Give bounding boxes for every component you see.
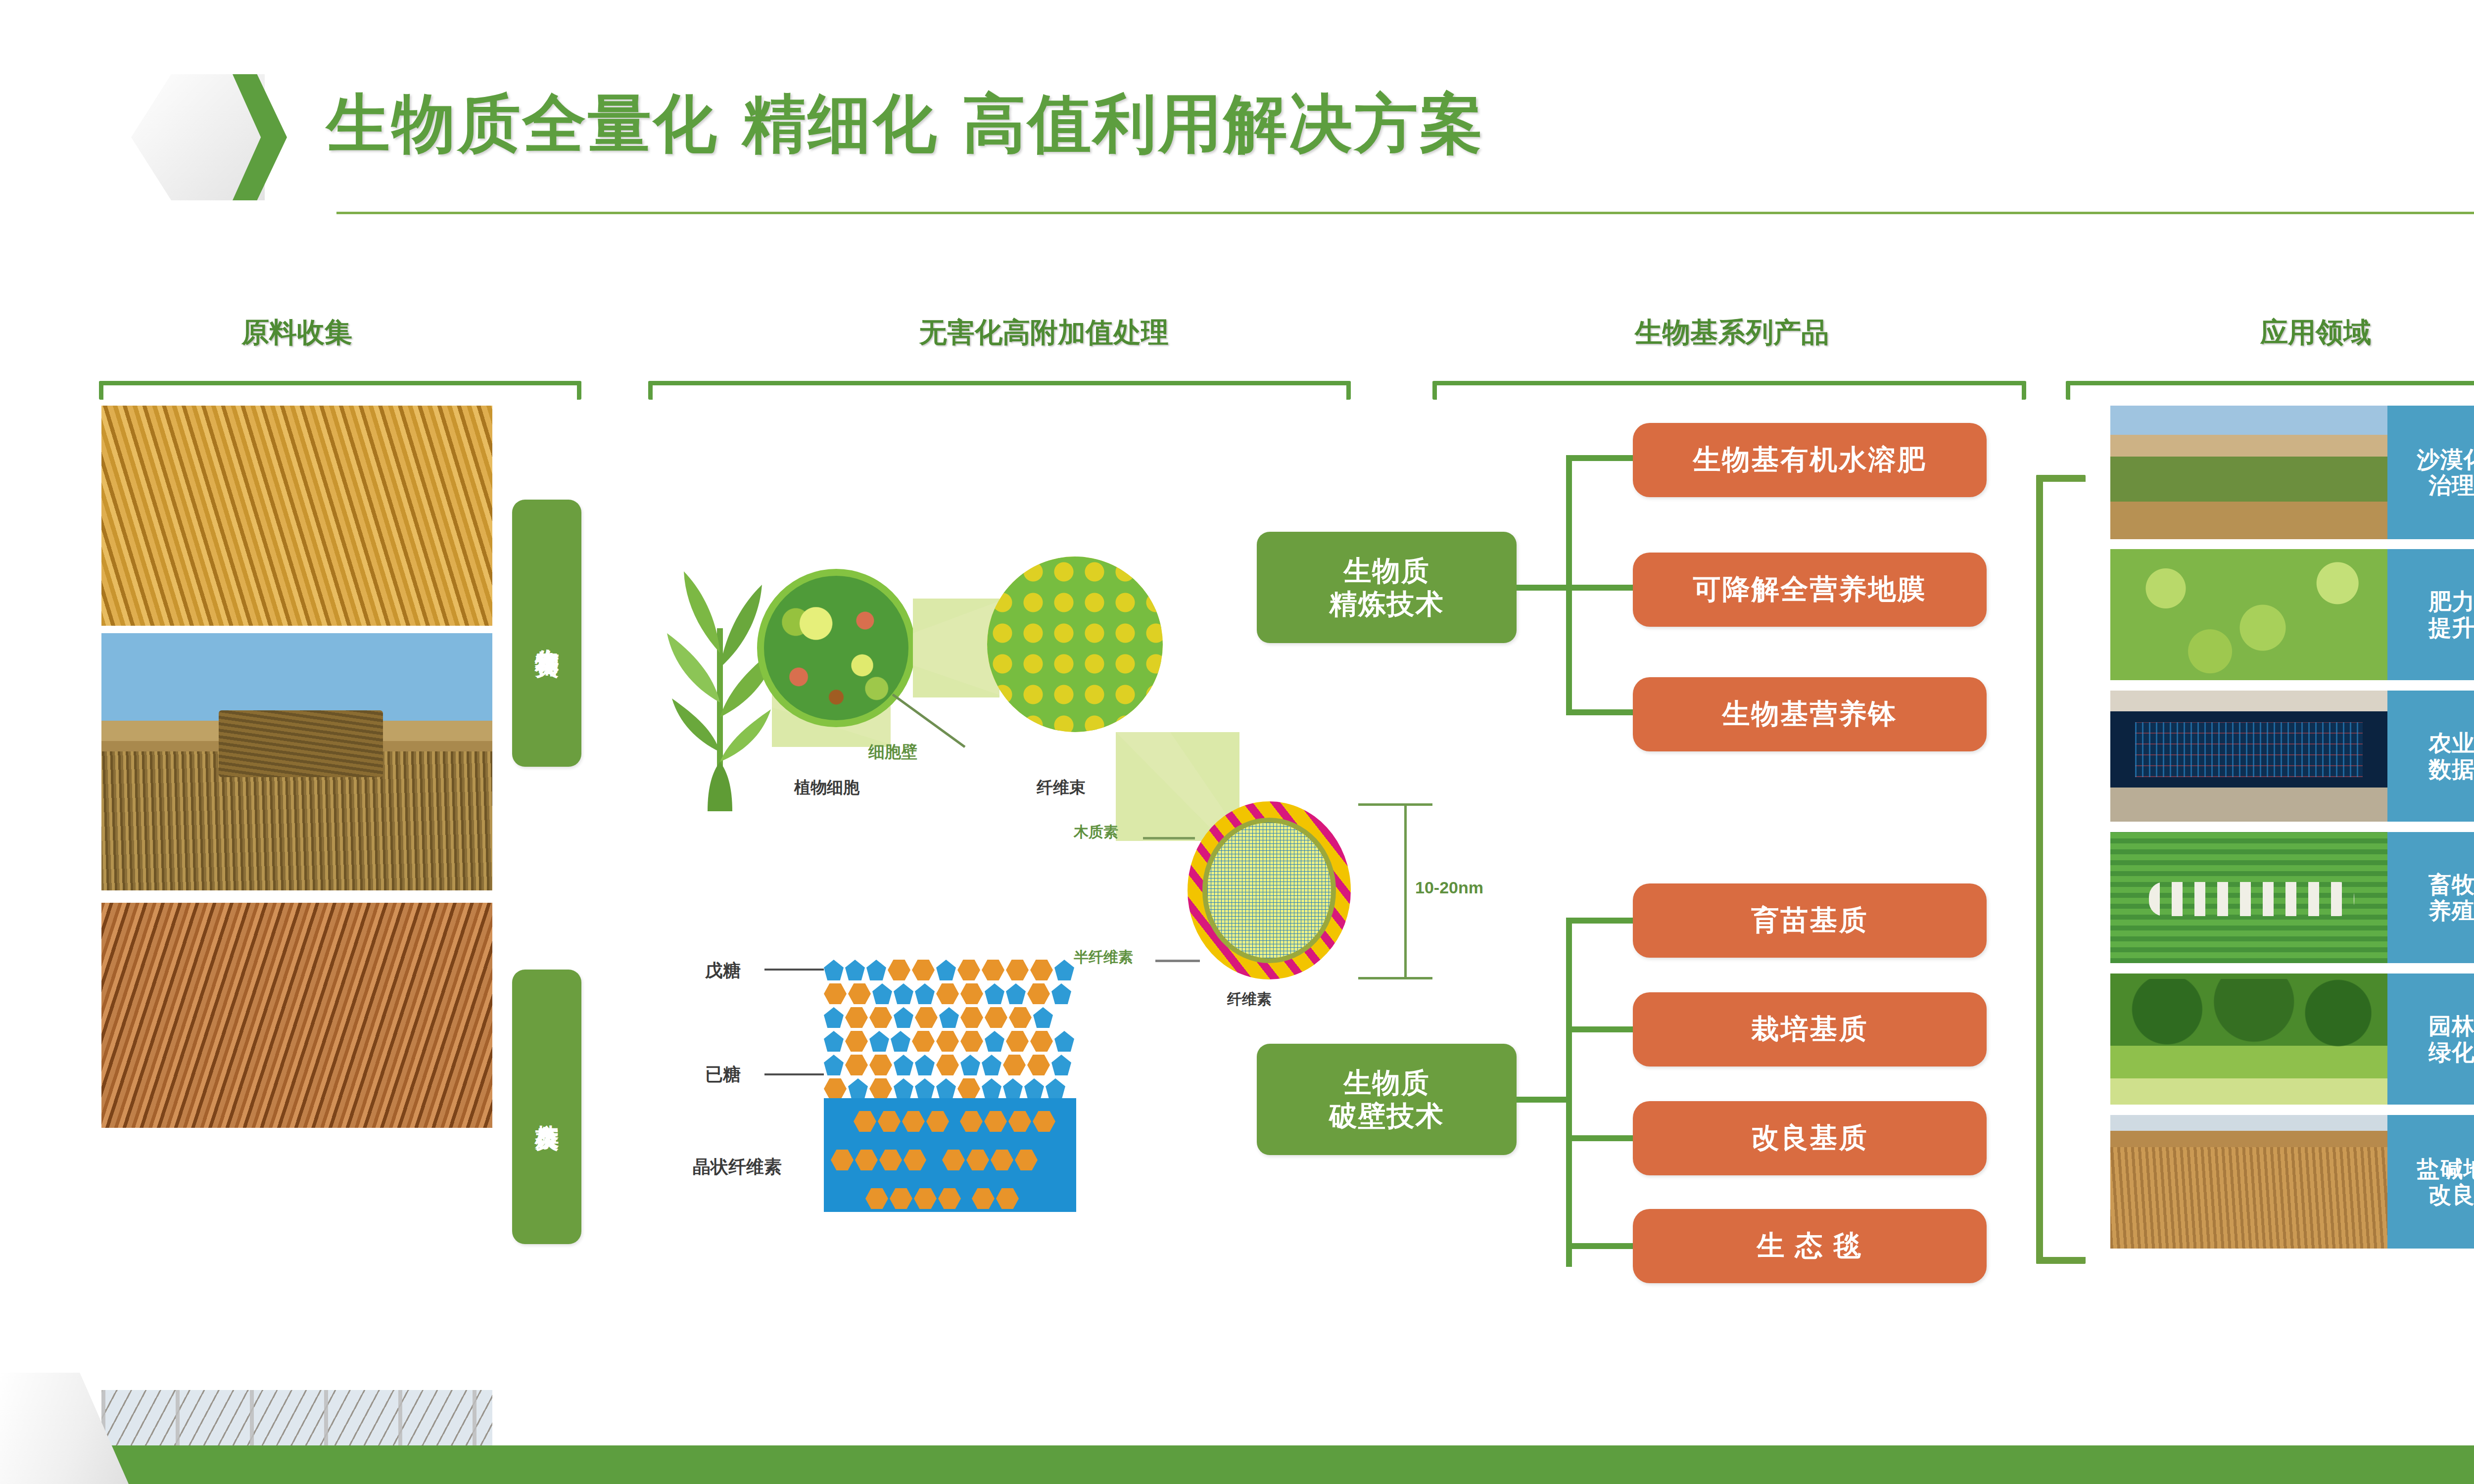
footer-bar	[0, 1445, 2474, 1484]
page-title: 生物质全量化 精细化 高值利用解决方案	[327, 82, 1485, 167]
section-bracket-applications	[2066, 381, 2474, 400]
product-box-improvement-substrate[interactable]: 改良基质	[1633, 1101, 1987, 1175]
section-title-processing: 无害化高附加值处理	[713, 314, 1376, 352]
dimension-tick-bottom	[1358, 977, 1432, 979]
application-label-agriculture-data: 农业 数据	[2387, 691, 2474, 822]
section-title-raw-material: 原料收集	[158, 314, 435, 352]
product-label-5: 栽培基质	[1752, 1011, 1868, 1048]
application-image-sheep-pasture	[2110, 832, 2387, 963]
fiber-bundle-illustration	[987, 556, 1163, 732]
application-label-desertification: 沙漠化 治理	[2387, 406, 2474, 539]
section-bracket-bio-products	[1432, 381, 2026, 400]
connector-wallbreak-spine	[1566, 921, 1572, 1267]
application-row-agriculture-data[interactable]: 农业 数据	[2110, 691, 2474, 822]
lignin-leader-line	[1143, 837, 1195, 839]
label-scale-10-20nm: 10-20nm	[1415, 878, 1483, 897]
application-row-landscaping[interactable]: 园林 绿化	[2110, 974, 2474, 1105]
product-box-eco-blanket[interactable]: 生 态 毯	[1633, 1209, 1987, 1283]
application-label-soil-fertility: 肥力 提升	[2387, 549, 2474, 680]
label-fiber-bundle: 纤维束	[1037, 777, 1086, 799]
sugar-chain-row-5	[824, 1055, 1071, 1075]
section-title-bio-products: 生物基系列产品	[1450, 314, 2014, 352]
hexose-leader-line	[764, 1073, 824, 1075]
product-label-4: 育苗基质	[1752, 902, 1868, 939]
application-image-cabbage-field	[2110, 549, 2387, 680]
product-box-nutrition-pot[interactable]: 生物基营养钵	[1633, 677, 1987, 751]
crystalline-cellulose-illustration	[824, 1098, 1076, 1212]
product-label-6: 改良基质	[1752, 1119, 1868, 1157]
raw-category-crop-straw[interactable]: 农作物秸秆类	[512, 500, 581, 767]
product-label-7: 生 态 毯	[1757, 1227, 1862, 1265]
pentose-leader-line	[764, 969, 824, 971]
section-title-applications: 应用领域	[2108, 314, 2474, 352]
product-box-seedling-substrate[interactable]: 育苗基质	[1633, 883, 1987, 958]
label-cell-wall: 细胞壁	[868, 741, 917, 763]
label-hexose: 已糖	[705, 1063, 741, 1087]
product-label-1: 生物基有机水溶肥	[1693, 441, 1927, 479]
technology-wall-breaking-label: 生物质 破壁技术	[1330, 1067, 1444, 1132]
page-header: 生物质全量化 精细化 高值利用解决方案	[0, 0, 2474, 232]
application-label-saline-alkali: 盐碱地 改良	[2387, 1115, 2474, 1249]
hemicellulose-leader-line	[1155, 960, 1200, 962]
connector-products-to-applications	[2036, 475, 2086, 1264]
raw-category-waste-branch-label: 废枝条类	[534, 1105, 560, 1109]
section-bracket-processing	[648, 381, 1351, 400]
raw-photo-straw-bale	[101, 633, 492, 890]
application-image-desert-control	[2110, 406, 2387, 539]
dimension-tick-top	[1358, 803, 1432, 806]
application-image-saline-land	[2110, 1115, 2387, 1249]
product-label-2: 可降解全营养地膜	[1693, 571, 1927, 608]
product-label-3: 生物基营养钵	[1722, 696, 1898, 733]
label-pentose: 戊糖	[705, 959, 741, 983]
sugar-chain-row-4	[824, 1031, 1074, 1052]
product-box-cultivation-substrate[interactable]: 栽培基质	[1633, 992, 1987, 1067]
label-crystalline-cellulose: 晶状纤维素	[693, 1155, 782, 1179]
dimension-line-vertical	[1404, 803, 1407, 979]
magnify-cone-fiber-icon	[913, 599, 999, 697]
cellulose-nanofiber-illustration	[1188, 801, 1351, 979]
application-row-livestock[interactable]: 畜牧 养殖	[2110, 832, 2474, 963]
label-cellulose: 纤维素	[1227, 989, 1272, 1010]
technology-box-refining[interactable]: 生物质 精炼技术	[1257, 532, 1517, 643]
application-label-landscaping: 园林 绿化	[2387, 974, 2474, 1105]
raw-photo-corn-straw	[101, 406, 492, 626]
raw-category-crop-straw-label: 农作物秸秆类	[534, 630, 560, 636]
technology-box-wall-breaking[interactable]: 生物质 破壁技术	[1257, 1044, 1517, 1155]
slide-canvas: 生物质全量化 精细化 高值利用解决方案 原料收集 无害化高附加值处理 生物基系列…	[0, 0, 2474, 1484]
sugar-chain-row-2	[824, 983, 1071, 1004]
label-lignin: 木质素	[1074, 822, 1118, 842]
sugar-chain-row-1	[824, 960, 1074, 980]
application-row-soil-fertility[interactable]: 肥力 提升	[2110, 549, 2474, 680]
connector-refining-stem	[1517, 585, 1571, 591]
application-image-landscaped-park	[2110, 974, 2387, 1105]
sugar-chain-row-6	[824, 1078, 1065, 1099]
product-box-water-soluble-fertilizer[interactable]: 生物基有机水溶肥	[1633, 423, 1987, 497]
title-underline	[336, 212, 2474, 214]
application-row-saline-alkali[interactable]: 盐碱地 改良	[2110, 1115, 2474, 1249]
raw-category-waste-branch[interactable]: 废枝条类	[512, 970, 581, 1244]
application-label-livestock: 畜牧 养殖	[2387, 832, 2474, 963]
application-image-data-center	[2110, 691, 2387, 822]
product-box-degradable-mulch-film[interactable]: 可降解全营养地膜	[1633, 553, 1987, 627]
technology-refining-label: 生物质 精炼技术	[1330, 555, 1444, 620]
label-hemicellulose: 半纤维素	[1074, 947, 1133, 968]
connector-wallbreak-stem	[1517, 1097, 1571, 1103]
raw-photo-pruned-branches	[101, 903, 492, 1128]
application-row-desertification[interactable]: 沙漠化 治理	[2110, 406, 2474, 539]
label-plant-cell: 植物细胞	[794, 777, 859, 799]
section-bracket-raw-material	[99, 381, 581, 400]
sugar-chain-row-3	[824, 1007, 1053, 1028]
